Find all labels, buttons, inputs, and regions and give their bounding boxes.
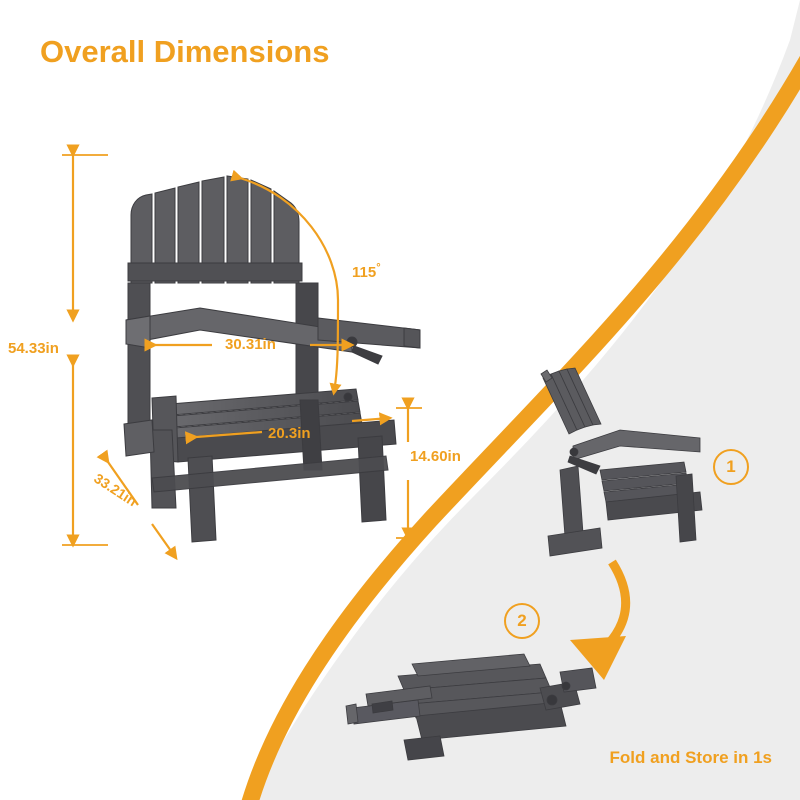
angle-value: 115 (352, 264, 376, 281)
dimension-label-back-angle: 115° (352, 262, 381, 281)
page-title: Overall Dimensions (40, 34, 329, 70)
step-badge-2: 2 (504, 603, 540, 639)
step-badge-1: 1 (713, 449, 749, 485)
degree-symbol: ° (376, 262, 380, 274)
dimension-annotations (0, 0, 800, 800)
dimension-label-height: 54.33in (8, 340, 59, 357)
dimension-label-seat-width: 20.3in (268, 425, 311, 442)
dimension-label-seat-height: 14.60in (410, 448, 461, 465)
product-dimension-infographic: Overall Dimensions (0, 0, 800, 800)
dimension-label-width: 30.31in (225, 336, 276, 353)
fold-caption: Fold and Store in 1s (610, 748, 772, 768)
